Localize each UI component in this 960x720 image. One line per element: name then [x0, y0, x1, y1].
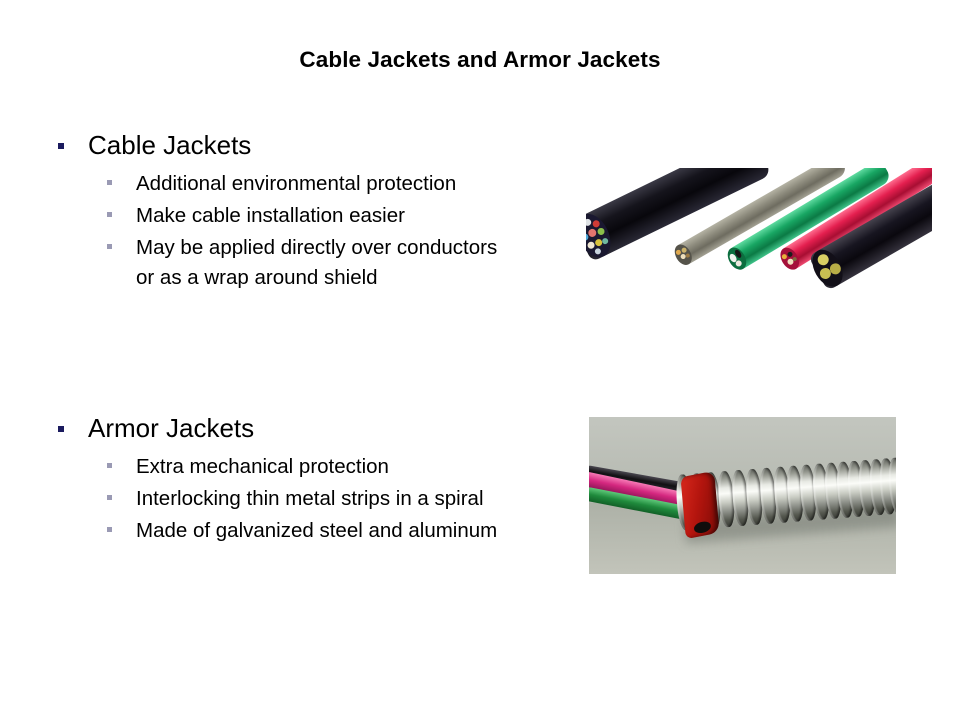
bullet-level2-item: Interlocking thin metal strips in a spir…: [52, 486, 592, 511]
sub-bullet-square-icon: [107, 527, 112, 532]
bullet-level2-label: Make cable installation easier: [136, 204, 405, 227]
sub-bullet-square-icon: [107, 180, 112, 185]
sub-bullet-square-icon: [107, 495, 112, 500]
bullet-square-icon: [58, 143, 64, 149]
bullet-level2-item: Make cable installation easier: [52, 203, 592, 228]
cable-face: [777, 244, 803, 273]
cable-face: [671, 241, 695, 268]
bullet-level1-cable-jackets: Cable Jackets: [52, 130, 592, 164]
bullet-group-armor-jackets: Armor Jackets Extra mechanical protectio…: [52, 413, 592, 543]
bullet-level2-label: Made of galvanized steel and aluminum: [136, 519, 497, 542]
bullet-level2-label: May be applied directly over conductors: [136, 236, 497, 259]
bullet-level2-label: Additional environmental protection: [136, 172, 456, 195]
bullet-level2-item: May be applied directly over conductors: [52, 235, 592, 260]
bullet-level2-label: Extra mechanical protection: [136, 455, 389, 478]
bullet-level2-label: Interlocking thin metal strips in a spir…: [136, 487, 484, 510]
bullet-level2-continuation: or as a wrap around shield: [52, 265, 592, 290]
bullet-level1-label: Armor Jackets: [88, 413, 254, 443]
bullet-level2-item: Made of galvanized steel and aluminum: [52, 518, 592, 543]
bullet-level2-item: Extra mechanical protection: [52, 454, 592, 479]
bullet-group-cable-jackets: Cable Jackets Additional environmental p…: [52, 130, 592, 290]
red-anti-short-bushing: [681, 471, 720, 539]
multi-conductor-cable-ends-photo: [586, 168, 932, 296]
bullet-level1-armor-jackets: Armor Jackets: [52, 413, 592, 447]
cable-face: [724, 244, 750, 273]
bullet-level2-item: Additional environmental protection: [52, 171, 592, 196]
bushing-opening: [694, 520, 712, 534]
sub-bullet-square-icon: [107, 463, 112, 468]
sub-bullet-square-icon: [107, 212, 112, 217]
armored-cable-photo: [589, 417, 896, 574]
page-title: Cable Jackets and Armor Jackets: [0, 47, 960, 73]
sub-bullet-square-icon: [107, 244, 112, 249]
slide: Cable Jackets and Armor Jackets Cable Ja…: [0, 0, 960, 720]
bullet-level1-label: Cable Jackets: [88, 130, 251, 160]
cable-face: [586, 208, 617, 262]
bullet-square-icon: [58, 426, 64, 432]
